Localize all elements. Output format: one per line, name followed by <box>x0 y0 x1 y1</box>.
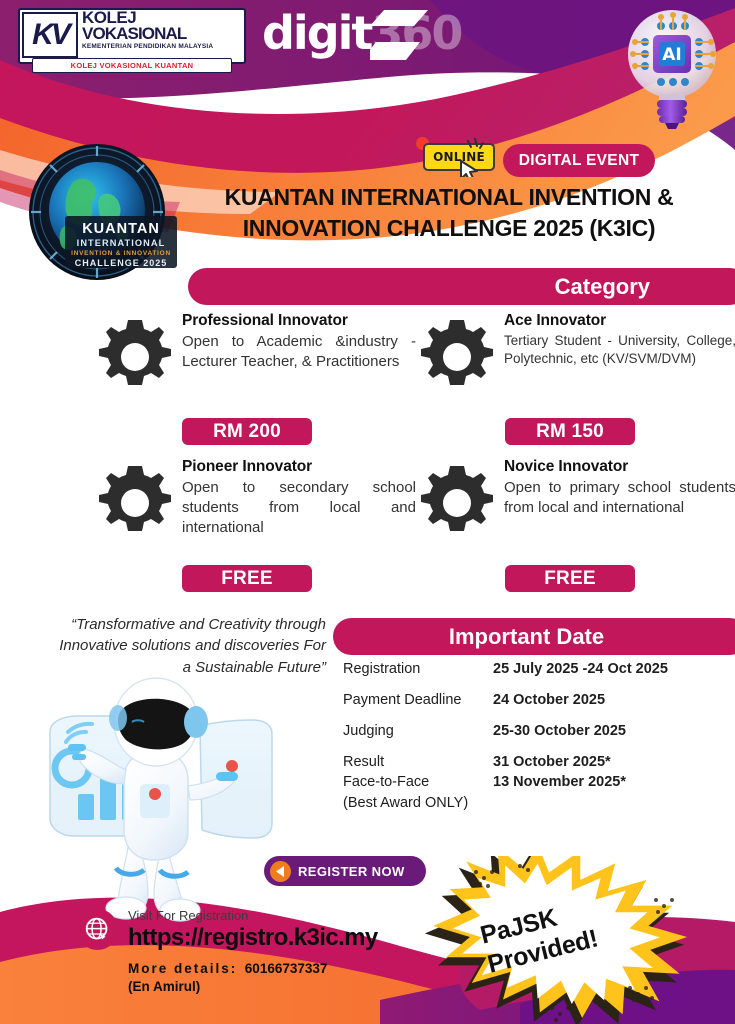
category-title: Professional Innovator <box>182 312 416 331</box>
svg-text:CHALLENGE 2025: CHALLENGE 2025 <box>75 258 168 268</box>
date-row: (Best Award ONLY) <box>343 794 733 813</box>
svg-text:INTERNATIONAL: INTERNATIONAL <box>77 238 166 248</box>
online-tag-badge: ONLINE <box>413 135 501 177</box>
category-description: Tertiary Student - University, College, … <box>504 332 735 369</box>
price-badge-novice: FREE <box>505 565 635 592</box>
important-dates-table: Registration 25 July 2025 -24 Oct 2025 P… <box>343 660 733 825</box>
price-badge-professional: RM 200 <box>182 418 312 445</box>
category-text-professional: Professional Innovator Open to Academic … <box>182 312 416 372</box>
date-value: 24 October 2025 <box>493 691 733 710</box>
category-text-novice: Novice Innovator Open to primary school … <box>504 458 735 518</box>
category-description: Open to primary school students from loc… <box>504 478 735 519</box>
contact-block: Visit For Registration https://registro.… <box>128 908 458 996</box>
registration-url[interactable]: https://registro.k3ic.my <box>128 924 458 953</box>
kolej-vokasional-logo: KV KOLEJ VOKASIONAL KEMENTERIAN PENDIDIK… <box>18 8 246 76</box>
cursor-click-icon <box>413 135 501 177</box>
kv-ministry-line: KEMENTERIAN PENDIDIKAN MALAYSIA <box>82 43 242 50</box>
date-value: 13 November 2025* <box>493 773 733 792</box>
date-value: 25-30 October 2025 <box>493 722 733 741</box>
date-label: Payment Deadline <box>343 691 493 710</box>
kv-logo-text: KOLEJ VOKASIONAL KEMENTERIAN PENDIDIKAN … <box>82 10 242 50</box>
gear-icon <box>96 464 174 542</box>
kv-campus-ribbon: KOLEJ VOKASIONAL KUANTAN <box>32 58 232 73</box>
tagline-quote: “Transformative and Creativity through I… <box>58 614 326 678</box>
digital-event-badge: DIGITAL EVENT <box>503 144 655 177</box>
kv-monogram-text: KV <box>32 18 68 52</box>
svg-text:KUANTAN: KUANTAN <box>82 221 160 237</box>
k3ic-globe-emblem: KUANTAN INTERNATIONAL INVENTION & INNOVA… <box>8 140 186 280</box>
digit360-logo: digit360 <box>262 10 461 56</box>
date-label: Registration <box>343 660 493 679</box>
contact-person: (En Amirul) <box>128 978 458 996</box>
category-title: Novice Innovator <box>504 458 735 477</box>
date-label: (Best Award ONLY) <box>343 794 493 813</box>
robot-mascot-illustration <box>20 672 310 922</box>
date-row: Result 31 October 2025* <box>343 753 733 772</box>
category-title: Pioneer Innovator <box>182 458 416 477</box>
category-text-ace: Ace Innovator Tertiary Student - Univers… <box>504 312 735 369</box>
register-now-button[interactable]: REGISTER NOW <box>264 856 426 886</box>
ai-lightbulb-illustration: AI <box>617 2 727 130</box>
category-text-pioneer: Pioneer Innovator Open to secondary scho… <box>182 458 416 538</box>
register-now-label: REGISTER NOW <box>298 864 405 879</box>
kv-monogram: KV <box>22 12 78 58</box>
contact-phone: 60166737337 <box>245 961 328 976</box>
poster-root: KV KOLEJ VOKASIONAL KEMENTERIAN PENDIDIK… <box>0 0 735 1024</box>
kv-line-2: VOKASIONAL <box>82 26 242 42</box>
more-details-label: More details: <box>128 961 237 976</box>
date-row: Face-to-Face 13 November 2025* <box>343 773 733 792</box>
price-badge-pioneer: FREE <box>182 565 312 592</box>
date-row: Registration 25 July 2025 -24 Oct 2025 <box>343 660 733 679</box>
date-row: Payment Deadline 24 October 2025 <box>343 691 733 710</box>
title-line-2: INNOVATION CHALLENGE 2025 (K3IC) <box>168 213 730 244</box>
svg-text:AI: AI <box>662 45 681 65</box>
arrow-left-icon <box>270 861 291 882</box>
date-value: 25 July 2025 -24 Oct 2025 <box>493 660 733 679</box>
category-description: Open to secondary school students from l… <box>182 478 416 539</box>
category-description: Open to Academic &industry - Lecturer Te… <box>182 332 416 373</box>
digit360-suffix: 360 <box>371 6 461 60</box>
date-value: 31 October 2025* <box>493 753 733 772</box>
visit-label: Visit For Registration <box>128 908 458 925</box>
gear-icon <box>96 318 174 396</box>
gear-icon <box>418 464 496 542</box>
category-banner: Category <box>188 268 735 305</box>
date-label: Result <box>343 753 493 772</box>
date-label: Face-to-Face <box>343 773 493 792</box>
important-date-banner: Important Date <box>333 618 735 655</box>
page-title: KUANTAN INTERNATIONAL INVENTION & INNOVA… <box>168 182 730 244</box>
more-details: More details: 60166737337 <box>128 960 458 978</box>
date-row: Judging 25-30 October 2025 <box>343 722 733 741</box>
pajsk-starburst-badge: PaJSK Provided! <box>424 856 724 1024</box>
price-badge-ace: RM 150 <box>505 418 635 445</box>
svg-text:INVENTION & INNOVATION: INVENTION & INNOVATION <box>71 250 171 257</box>
date-value <box>493 794 733 813</box>
category-title: Ace Innovator <box>504 312 735 331</box>
date-label: Judging <box>343 722 493 741</box>
gear-icon <box>418 318 496 396</box>
digit360-main: digit <box>262 6 371 60</box>
globe-website-icon <box>77 909 118 950</box>
title-line-1: KUANTAN INTERNATIONAL INVENTION & <box>168 182 730 213</box>
